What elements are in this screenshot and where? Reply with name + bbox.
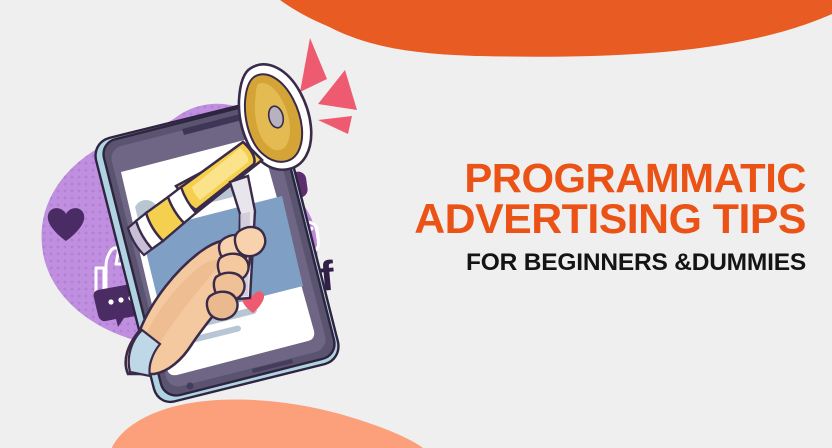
ad-banner: Bē f (0, 0, 832, 448)
heart-icon (48, 208, 85, 241)
headline-subtitle: FOR BEGINNERS &DUMMIES (376, 250, 806, 277)
headline-block: PROGRAMMATIC ADVERTISING TIPS FOR BEGINN… (376, 158, 806, 277)
headline-title-line-1: PROGRAMMATIC (367, 158, 806, 198)
headline-title-line-2: ADVERTISING TIPS (367, 198, 806, 239)
